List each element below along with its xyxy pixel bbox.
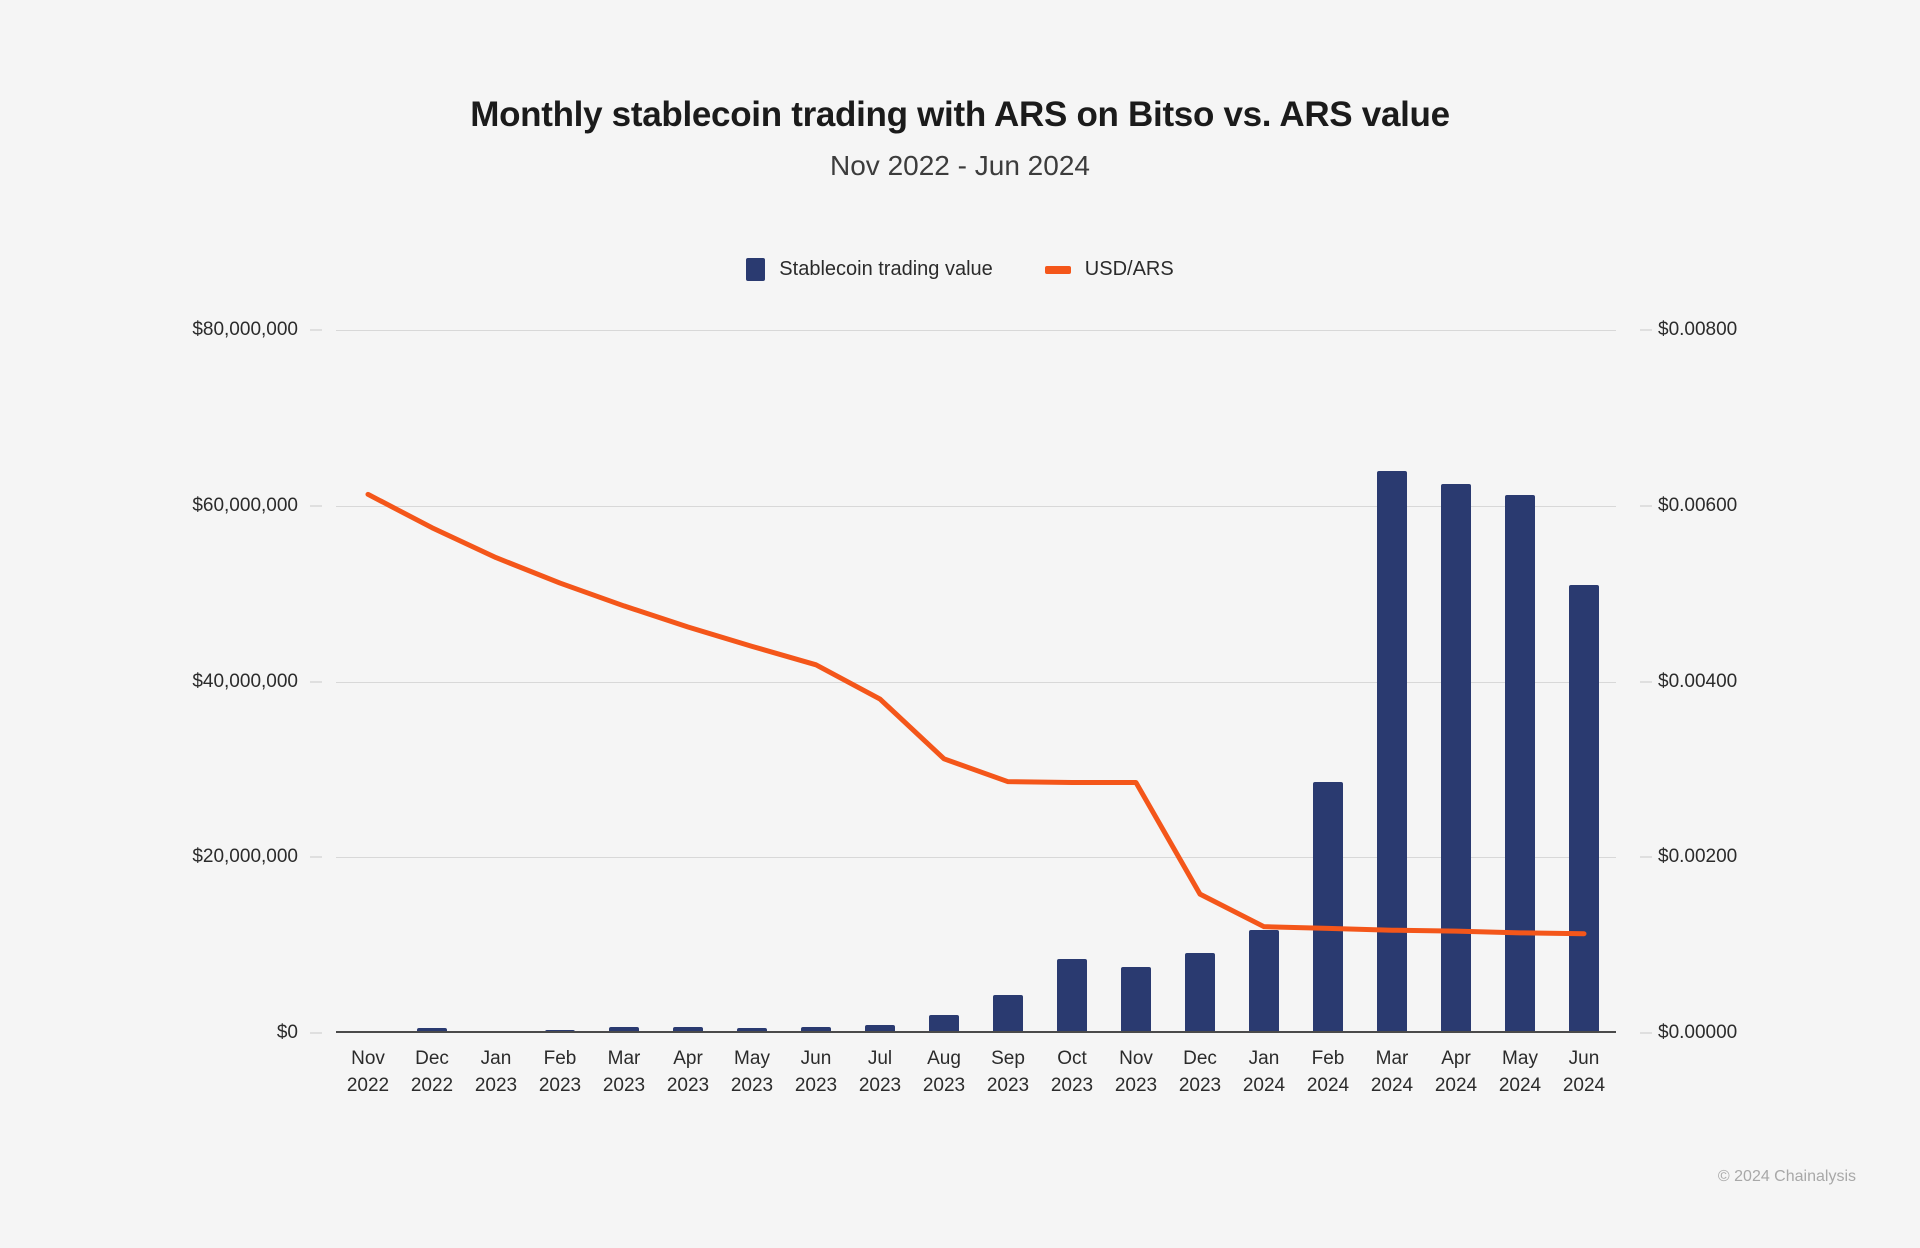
x-axis-tick-label: Aug2023 bbox=[912, 1045, 976, 1099]
y-axis-right-tick-label: $0.00200 bbox=[1658, 846, 1737, 868]
x-axis-year: 2024 bbox=[1232, 1072, 1296, 1099]
y-axis-right-tick-mark bbox=[1640, 330, 1652, 331]
x-axis-tick-label: Jul2023 bbox=[848, 1045, 912, 1099]
bar[interactable] bbox=[1121, 967, 1151, 1033]
x-axis-labels: Nov2022Dec2022Jan2023Feb2023Mar2023Apr20… bbox=[336, 1045, 1616, 1115]
x-axis-year: 2023 bbox=[1104, 1072, 1168, 1099]
x-axis-month: Mar bbox=[592, 1045, 656, 1072]
x-axis-year: 2023 bbox=[848, 1072, 912, 1099]
legend-bar-swatch-icon bbox=[746, 258, 765, 281]
y-axis-left-tick-mark bbox=[310, 330, 322, 331]
chart-legend: Stablecoin trading valueUSD/ARS bbox=[0, 258, 1920, 281]
y-axis-right-tick-label: $0.00000 bbox=[1658, 1022, 1737, 1044]
x-axis-tick-label: Dec2022 bbox=[400, 1045, 464, 1099]
x-axis-tick-label: Oct2023 bbox=[1040, 1045, 1104, 1099]
y-axis-right-tick-mark bbox=[1640, 857, 1652, 858]
bar[interactable] bbox=[1057, 959, 1087, 1033]
legend-item-bar[interactable]: Stablecoin trading value bbox=[746, 258, 992, 281]
x-axis-tick-label: Sep2023 bbox=[976, 1045, 1040, 1099]
legend-line-swatch-icon bbox=[1045, 266, 1071, 274]
x-axis-tick-label: Apr2024 bbox=[1424, 1045, 1488, 1099]
y-axis-right-tick-label: $0.00600 bbox=[1658, 495, 1737, 517]
x-axis-month: Feb bbox=[1296, 1045, 1360, 1072]
plot-area bbox=[336, 330, 1616, 1033]
copyright-credit: © 2024 Chainalysis bbox=[1718, 1168, 1856, 1186]
x-axis-month: Dec bbox=[400, 1045, 464, 1072]
x-axis-month: Jun bbox=[784, 1045, 848, 1072]
bar[interactable] bbox=[1441, 484, 1471, 1033]
bar[interactable] bbox=[1505, 495, 1535, 1033]
x-axis-tick-label: Feb2024 bbox=[1296, 1045, 1360, 1099]
y-axis-right-tick-mark bbox=[1640, 1033, 1652, 1034]
x-axis-month: Jun bbox=[1552, 1045, 1616, 1072]
bar-series bbox=[336, 330, 1616, 1033]
y-axis-left-tick-label: $60,000,000 bbox=[192, 495, 298, 517]
y-axis-left-tick-label: $40,000,000 bbox=[192, 671, 298, 693]
legend-label: Stablecoin trading value bbox=[779, 258, 992, 281]
y-axis-right-tick-label: $0.00800 bbox=[1658, 319, 1737, 341]
x-axis-tick-label: Feb2023 bbox=[528, 1045, 592, 1099]
x-axis-tick-label: Apr2023 bbox=[656, 1045, 720, 1099]
x-axis-year: 2024 bbox=[1552, 1072, 1616, 1099]
x-axis-year: 2023 bbox=[912, 1072, 976, 1099]
x-axis-month: Apr bbox=[656, 1045, 720, 1072]
x-axis-month: Aug bbox=[912, 1045, 976, 1072]
x-axis-tick-label: May2023 bbox=[720, 1045, 784, 1099]
x-axis-tick-label: Nov2023 bbox=[1104, 1045, 1168, 1099]
x-axis-month: Mar bbox=[1360, 1045, 1424, 1072]
y-axis-right: $0.00000$0.00200$0.00400$0.00600$0.00800 bbox=[1638, 330, 1818, 1033]
chart-container: Monthly stablecoin trading with ARS on B… bbox=[0, 0, 1920, 1248]
y-axis-left-tick-label: $20,000,000 bbox=[192, 846, 298, 868]
x-axis-year: 2022 bbox=[336, 1072, 400, 1099]
y-axis-left-tick-label: $0 bbox=[277, 1022, 298, 1044]
x-axis-tick-label: Dec2023 bbox=[1168, 1045, 1232, 1099]
x-axis-year: 2024 bbox=[1296, 1072, 1360, 1099]
x-axis-tick-label: Jun2023 bbox=[784, 1045, 848, 1099]
x-axis-year: 2023 bbox=[976, 1072, 1040, 1099]
x-axis-tick-label: Mar2024 bbox=[1360, 1045, 1424, 1099]
legend-item-line[interactable]: USD/ARS bbox=[1045, 258, 1174, 281]
x-axis-month: Jul bbox=[848, 1045, 912, 1072]
chart-subtitle: Nov 2022 - Jun 2024 bbox=[0, 150, 1920, 182]
y-axis-right-tick-mark bbox=[1640, 681, 1652, 682]
x-axis-year: 2023 bbox=[528, 1072, 592, 1099]
x-axis-tick-label: Mar2023 bbox=[592, 1045, 656, 1099]
x-axis-year: 2023 bbox=[1040, 1072, 1104, 1099]
x-axis-month: Dec bbox=[1168, 1045, 1232, 1072]
bar[interactable] bbox=[1377, 471, 1407, 1033]
x-axis-month: Oct bbox=[1040, 1045, 1104, 1072]
x-axis-year: 2023 bbox=[720, 1072, 784, 1099]
x-axis-month: Feb bbox=[528, 1045, 592, 1072]
bar[interactable] bbox=[993, 995, 1023, 1033]
x-axis-year: 2023 bbox=[656, 1072, 720, 1099]
x-axis-month: Jan bbox=[464, 1045, 528, 1072]
bar[interactable] bbox=[1185, 953, 1215, 1033]
x-axis-tick-label: Nov2022 bbox=[336, 1045, 400, 1099]
x-axis-year: 2023 bbox=[464, 1072, 528, 1099]
x-axis-tick-label: Jun2024 bbox=[1552, 1045, 1616, 1099]
y-axis-left: $0$20,000,000$40,000,000$60,000,000$80,0… bbox=[146, 330, 326, 1033]
x-axis-month: Nov bbox=[1104, 1045, 1168, 1072]
x-axis-year: 2024 bbox=[1360, 1072, 1424, 1099]
bar[interactable] bbox=[1249, 930, 1279, 1033]
x-axis-month: Apr bbox=[1424, 1045, 1488, 1072]
legend-label: USD/ARS bbox=[1085, 258, 1174, 281]
y-axis-left-tick-mark bbox=[310, 1033, 322, 1034]
x-axis-year: 2023 bbox=[1168, 1072, 1232, 1099]
chart-title: Monthly stablecoin trading with ARS on B… bbox=[0, 95, 1920, 135]
bar[interactable] bbox=[1313, 782, 1343, 1033]
x-axis-tick-label: Jan2024 bbox=[1232, 1045, 1296, 1099]
x-axis-month: May bbox=[1488, 1045, 1552, 1072]
y-axis-right-tick-label: $0.00400 bbox=[1658, 671, 1737, 693]
y-axis-right-tick-mark bbox=[1640, 505, 1652, 506]
x-axis-month: Jan bbox=[1232, 1045, 1296, 1072]
bar[interactable] bbox=[1569, 585, 1599, 1033]
y-axis-left-tick-mark bbox=[310, 857, 322, 858]
x-axis-year: 2024 bbox=[1424, 1072, 1488, 1099]
x-axis-baseline bbox=[336, 1031, 1616, 1033]
x-axis-year: 2023 bbox=[784, 1072, 848, 1099]
x-axis-year: 2024 bbox=[1488, 1072, 1552, 1099]
x-axis-tick-label: Jan2023 bbox=[464, 1045, 528, 1099]
x-axis-month: Sep bbox=[976, 1045, 1040, 1072]
x-axis-tick-label: May2024 bbox=[1488, 1045, 1552, 1099]
x-axis-year: 2022 bbox=[400, 1072, 464, 1099]
x-axis-month: Nov bbox=[336, 1045, 400, 1072]
x-axis-month: May bbox=[720, 1045, 784, 1072]
y-axis-left-tick-mark bbox=[310, 681, 322, 682]
y-axis-left-tick-mark bbox=[310, 505, 322, 506]
x-axis-year: 2023 bbox=[592, 1072, 656, 1099]
y-axis-left-tick-label: $80,000,000 bbox=[192, 319, 298, 341]
